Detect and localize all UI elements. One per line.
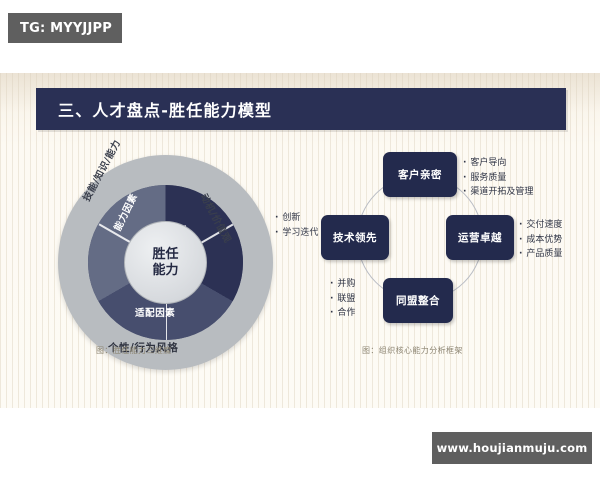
telegram-watermark-text: TG: MYYJJPP [20, 21, 112, 36]
bullets-technology-leadership: 创新 学习迭代 [275, 211, 318, 240]
node-customer-intimacy: 客户亲密 [383, 152, 457, 197]
bullet-item: 联盟 [330, 292, 355, 307]
bullet-item: 交付速度 [519, 218, 562, 233]
bullet-item: 并购 [330, 277, 355, 292]
competency-wheel-diagram: 动力因素 能力因素 适配因素 技能/知识/能力 动机/价值观 个性/行为风格 胜… [58, 155, 273, 370]
figure-left-caption: 图：胜任能力三维度 [96, 345, 172, 356]
bullet-item: 成本优势 [519, 233, 562, 248]
slide-canvas: 三、人才盘点-胜任能力模型 动力因素 能力因素 适配因素 技能/知识/能力 动机… [0, 73, 600, 408]
bullet-item: 创新 [275, 211, 318, 226]
wheel-core-line2: 能力 [152, 263, 178, 279]
site-watermark-text: www.houjianmuju.com [437, 441, 588, 455]
bullet-item: 渠道开拓及管理 [463, 185, 533, 200]
bullet-item: 学习迭代 [275, 226, 318, 241]
site-watermark-tag: www.houjianmuju.com [432, 432, 592, 464]
node-alliance-integration: 同盟整合 [383, 278, 453, 323]
bullets-alliance-integration: 并购 联盟 合作 [330, 277, 355, 321]
bullet-item: 产品质量 [519, 247, 562, 262]
figure-right-caption: 图：组织核心能力分析框架 [362, 345, 463, 356]
slide-title-bar: 三、人才盘点-胜任能力模型 [36, 88, 566, 130]
inner-ring-label-fit: 适配因素 [135, 305, 175, 319]
page-title: 三、人才盘点-胜任能力模型 [36, 97, 272, 121]
bullets-operational-excellence: 交付速度 成本优势 产品质量 [519, 218, 562, 262]
bullets-customer-intimacy: 客户导向 服务质量 渠道开拓及管理 [463, 156, 533, 200]
node-technology-leadership: 技术领先 [321, 215, 389, 260]
slide-screenshot: TG: MYYJJPP 三、人才盘点-胜任能力模型 动力因素 能力因素 适配因素 [0, 0, 600, 480]
bullet-item: 客户导向 [463, 156, 533, 171]
core-capability-framework-diagram: 客户亲密 运营卓越 同盟整合 技术领先 客户导向 服务质量 渠道开拓及管理 交付… [320, 153, 580, 358]
wheel-core: 胜任 能力 [124, 221, 207, 304]
bullet-item: 合作 [330, 306, 355, 321]
node-operational-excellence: 运营卓越 [446, 215, 514, 260]
bullet-item: 服务质量 [463, 171, 533, 186]
wheel-core-line1: 胜任 [152, 247, 178, 263]
telegram-watermark-tag: TG: MYYJJPP [8, 13, 122, 43]
